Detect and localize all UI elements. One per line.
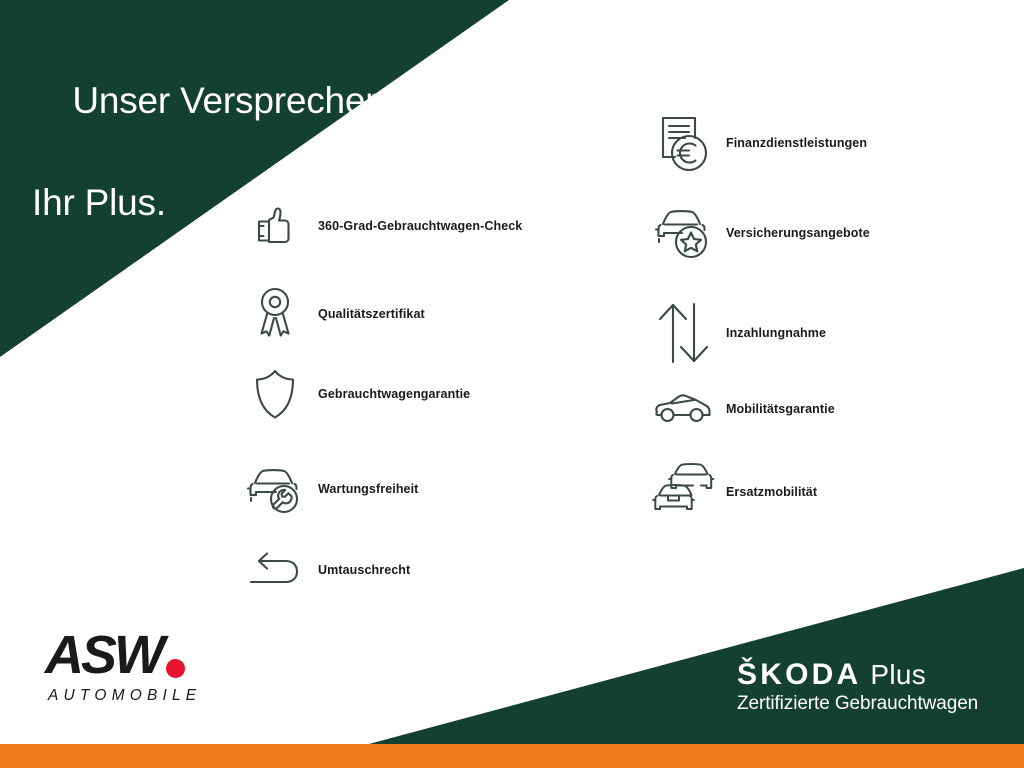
thumbs-up-icon — [232, 200, 318, 252]
orange-bottom-bar — [0, 744, 1024, 768]
shield-icon — [232, 365, 318, 423]
skoda-wordmark-row: ŠKODA Plus — [737, 660, 978, 690]
feature-label: Versicherungsangebote — [726, 226, 870, 240]
feature-label: Inzahlungnahme — [726, 326, 826, 340]
feature-label: Qualitätszertifikat — [318, 307, 425, 321]
feature-label: Wartungsfreiheit — [318, 482, 418, 496]
feature-item-maintenance-free: Wartungsfreiheit — [232, 463, 418, 515]
skoda-plus-label: Plus — [870, 661, 926, 689]
feature-label: Ersatzmobilität — [726, 485, 817, 499]
feature-item-360-check: 360-Grad-Gebrauchtwagen-Check — [232, 200, 522, 252]
feature-item-replacement-mobility: Ersatzmobilität — [640, 462, 817, 522]
award-rosette-icon — [232, 285, 318, 343]
feature-item-financial-services: Finanzdienstleistungen — [640, 112, 867, 174]
return-arrow-icon — [232, 548, 318, 592]
feature-item-mobility-guarantee: Mobilitätsgarantie — [640, 392, 835, 426]
up-down-arrows-icon — [640, 300, 726, 366]
car-side-icon — [640, 392, 726, 426]
feature-label: Umtauschrecht — [318, 563, 410, 577]
skoda-wordmark: ŠKODA — [737, 660, 861, 690]
asw-red-dot-icon — [166, 659, 185, 678]
feature-item-exchange-right: Umtauschrecht — [232, 548, 410, 592]
feature-label: Finanzdienstleistungen — [726, 136, 867, 150]
feature-item-quality-certificate: Qualitätszertifikat — [232, 285, 425, 343]
asw-subtitle: AUTOMOBILE — [48, 687, 245, 705]
feature-label: 360-Grad-Gebrauchtwagen-Check — [318, 219, 522, 233]
feature-item-used-car-warranty: Gebrauchtwagengarantie — [232, 365, 470, 423]
feature-item-insurance-offers: Versicherungsangebote — [640, 205, 870, 261]
feature-item-trade-in: Inzahlungnahme — [640, 300, 826, 366]
document-euro-icon — [640, 112, 726, 174]
asw-logo: ASW AUTOMOBILE — [45, 628, 245, 705]
two-cars-icon — [640, 462, 726, 522]
skoda-subtitle: Zertifizierte Gebrauchtwagen — [737, 694, 978, 715]
car-wrench-icon — [232, 463, 318, 515]
headline-line-1: Unser Versprechen. — [72, 80, 395, 121]
car-star-icon — [640, 205, 726, 261]
feature-label: Mobilitätsgarantie — [726, 402, 835, 416]
asw-wordmark: ASW — [45, 628, 162, 682]
asw-wordmark-row: ASW — [45, 628, 245, 682]
promo-banner: Unser Versprechen. Ihr Plus. 360-Grad-Ge… — [0, 0, 1024, 768]
feature-label: Gebrauchtwagengarantie — [318, 387, 470, 401]
skoda-plus-logo: ŠKODA Plus Zertifizierte Gebrauchtwagen — [737, 660, 978, 715]
